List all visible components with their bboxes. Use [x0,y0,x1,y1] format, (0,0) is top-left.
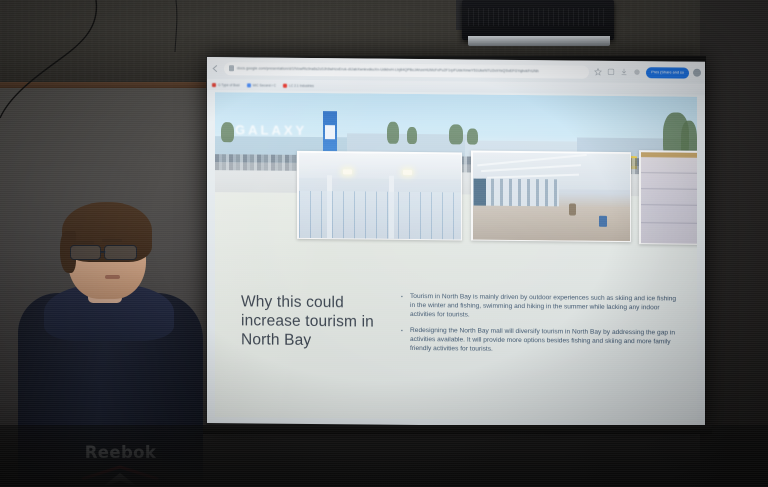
eyebrow-left [74,241,94,244]
back-arrow-icon[interactable] [211,64,220,73]
profile-avatar-icon[interactable] [693,69,701,77]
classroom-scene: docs.google.com/presentation/d/1fVowRtc9… [0,0,768,487]
right-wall [700,0,768,487]
lock-icon [229,65,234,71]
presentation-slide: GALAXY [215,92,697,422]
slide-photo-strip: GALAXY [215,92,697,197]
blue-sign-pylon [323,111,337,151]
glasses [70,245,150,260]
eyebrow-right [102,239,122,242]
extensions-puzzle-icon[interactable] [607,68,615,76]
bookmark-item[interactable]: MIC Second r C [247,83,276,87]
menu-icon[interactable] [633,68,641,76]
glasses-lens-left [70,245,101,260]
slide-title: Why this could increase tourism in North… [241,292,391,350]
star-icon[interactable] [594,68,602,76]
projector-lens-housing [468,36,610,46]
bullet-item: Redesigning the North Bay mall will dive… [401,326,683,356]
mouth [105,275,120,279]
browser-window: docs.google.com/presentation/d/1fVowRtc9… [207,57,705,428]
glasses-lens-right [104,245,137,260]
bookmark-item[interactable]: LC 2.1 Industries [283,83,314,87]
galaxy-sign-text: GALAXY [235,122,307,138]
bookmark-label: MIC Second r C [253,83,276,87]
bookmark-label: LC 2.1 Industries [289,83,314,87]
floor-shadow [0,425,768,487]
bullet-item: Tourism in North Bay is mainly driven by… [401,292,683,322]
mall-entrance-photo [297,151,462,241]
bookmark-label: G Type of Busi [218,83,240,87]
slide-bullet-list: Tourism in North Bay is mainly driven by… [401,292,683,363]
hanging-cable [0,0,240,150]
download-icon[interactable] [620,68,628,76]
share-button[interactable]: Pres (Share and so [646,67,689,78]
url-text: docs.google.com/presentation/d/1fVowRtc9… [237,66,539,73]
address-bar[interactable]: docs.google.com/presentation/d/1fVowRtc9… [224,62,589,79]
ceiling-projector [462,0,614,40]
bookmark-item[interactable]: G Type of Busi [212,83,240,87]
mall-corridor-photo [471,151,631,243]
washed-out-photo [639,150,697,245]
projector-vent [468,8,608,26]
